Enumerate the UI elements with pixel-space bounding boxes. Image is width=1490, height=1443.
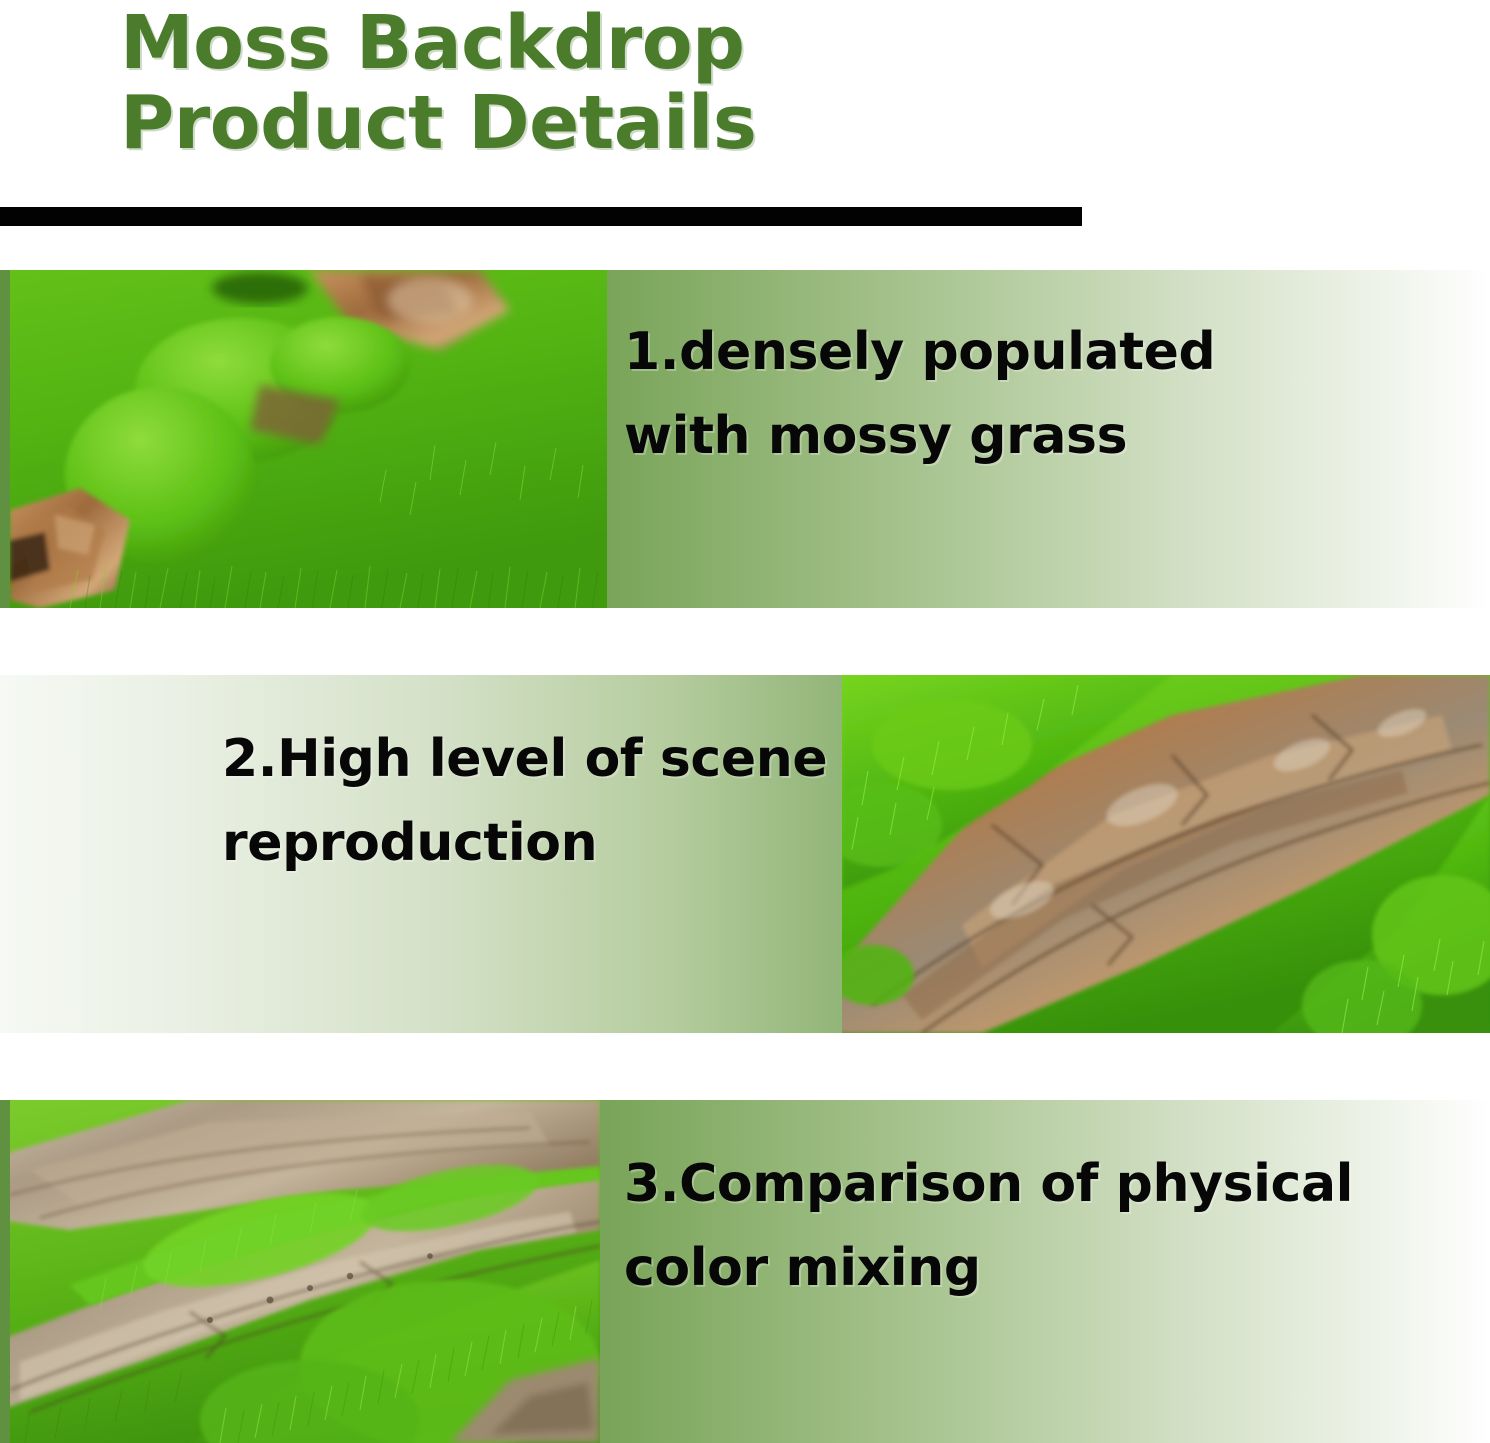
bark-strips-illustration: [10, 1100, 600, 1443]
feature-caption-2: 2.High level of scene reproduction: [222, 717, 842, 885]
feature-row-3: 3.Comparison of physical color mixing: [0, 1100, 1490, 1443]
feature-caption-3: 3.Comparison of physical color mixing: [624, 1142, 1384, 1310]
title-divider-rule: [0, 207, 1082, 226]
feature-photo-bark-strips-moss: [10, 1100, 600, 1443]
feature-caption-1: 1.densely populated with mossy grass: [624, 310, 1324, 478]
moss-closeup-illustration: [10, 270, 607, 608]
feature-row-1: 1.densely populated with mossy grass: [0, 270, 1490, 608]
feature-photo-bark-ridge: [842, 675, 1490, 1033]
page-header: Moss Backdrop Product Details: [0, 0, 1490, 240]
feature-photo-moss-closeup: [10, 270, 607, 608]
bark-ridge-illustration: [842, 675, 1490, 1033]
feature-row-2: 2.High level of scene reproduction: [0, 675, 1490, 1033]
page-title: Moss Backdrop Product Details: [120, 4, 1020, 164]
